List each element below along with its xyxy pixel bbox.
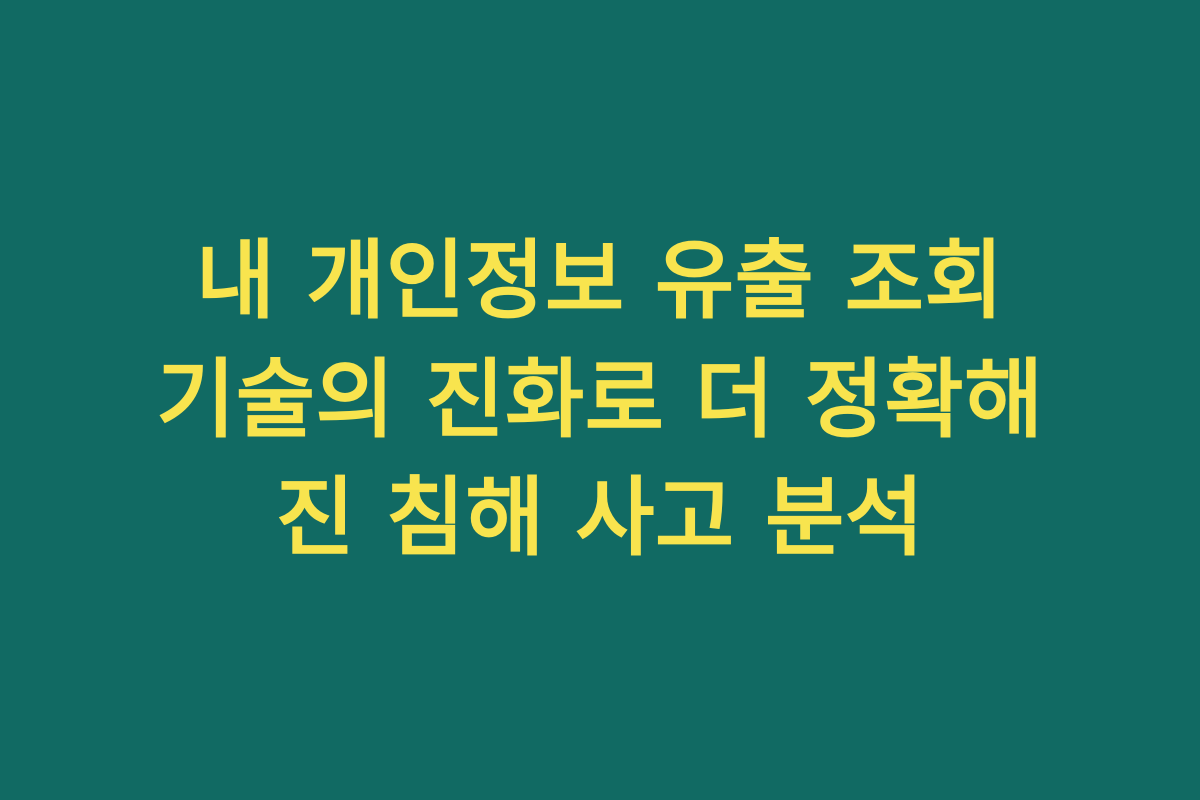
headline-line-3: 진 침해 사고 분석 — [25, 459, 1175, 578]
poster-canvas: 내 개인정보 유출 조회 기술의 진화로 더 정확해 진 침해 사고 분석 — [0, 0, 1200, 800]
headline-line-1: 내 개인정보 유출 조회 — [25, 222, 1175, 341]
headline-line-2: 기술의 진화로 더 정확해 — [25, 341, 1175, 460]
page-title: 내 개인정보 유출 조회 기술의 진화로 더 정확해 진 침해 사고 분석 — [25, 222, 1175, 578]
